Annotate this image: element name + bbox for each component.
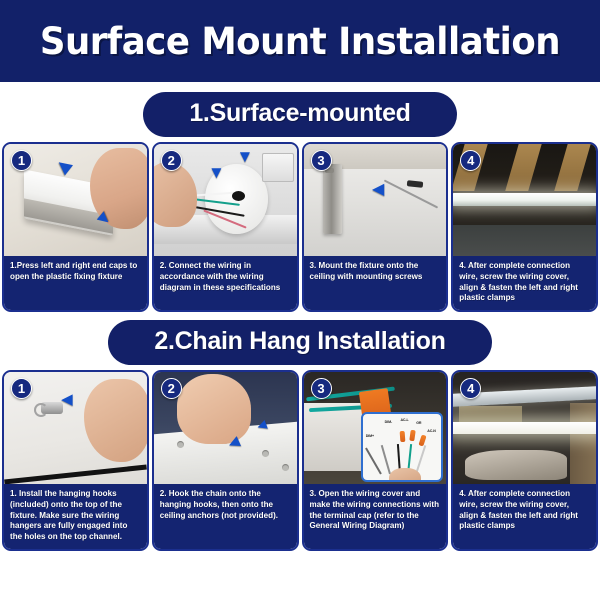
step-number-badge: 1	[11, 378, 32, 399]
lit-led-tube-shape	[453, 422, 596, 433]
page-header-banner: Surface Mount Installation	[0, 0, 600, 82]
step-card-2-4[interactable]: 4 4. After complete connection wire, scr…	[451, 370, 598, 551]
lit-led-tube-shape	[453, 193, 596, 205]
terminal-cap-shape	[399, 431, 405, 442]
inset-label-ac-n: AC-N	[427, 429, 436, 433]
step-card-2-2[interactable]: ◀ ◀ 2 2. Hook the chain onto the hanging…	[152, 370, 299, 551]
hanging-hook-shape	[41, 402, 63, 414]
inset-label-dim-plus: DIM+	[366, 434, 374, 438]
step-card-1-4[interactable]: 4 4. After complete connection wire, scr…	[451, 142, 598, 312]
direction-arrow-icon: ◀	[372, 182, 384, 198]
step-caption: 2. Hook the chain onto the hanging hooks…	[154, 484, 297, 549]
terminal-cap-shape	[409, 430, 415, 442]
hand-shape	[389, 468, 421, 482]
step-number-badge: 2	[161, 150, 182, 171]
section-heading-surface-mounted: 1.Surface-mounted	[0, 86, 600, 142]
step-caption: 1. Install the hanging hooks (included) …	[4, 484, 147, 549]
wall-shape	[570, 403, 596, 484]
direction-arrow-icon: ◀	[61, 392, 73, 407]
wiring-diagram-inset: DIM+ DIM- AC-L GR AC-N	[361, 412, 444, 481]
hand-shape	[177, 374, 251, 443]
step-number-badge: 2	[161, 378, 182, 399]
garage-clutter-shape	[465, 450, 568, 479]
section-2-steps-row: ◀ 1 1. Install the hanging hooks (includ…	[0, 370, 600, 551]
storage-boxes-shape	[459, 406, 522, 424]
step-card-1-3[interactable]: ◀ 3 3. Mount the fixture onto the ceilin…	[302, 142, 449, 312]
step-photo-1-3: ◀ 3	[304, 144, 447, 256]
wood-joist-shape	[554, 144, 592, 191]
step-photo-1-4: 4	[453, 144, 596, 256]
section-heading-chain-hang: 2.Chain Hang Installation	[0, 314, 600, 370]
step-caption: 2. Connect the wiring in accordance with…	[154, 256, 297, 310]
wire-lead-dim-minus	[381, 445, 391, 474]
mounting-hole-shape	[282, 464, 289, 471]
step-caption: 4. After complete connection wire, screw…	[453, 256, 596, 310]
step-card-1-1[interactable]: ◀ ◀ 1 1.Press left and right end caps to…	[2, 142, 149, 312]
direction-arrow-icon: ▼	[208, 164, 225, 181]
mounting-bracket-shape	[323, 164, 342, 233]
section-2-pill-label: 2.Chain Hang Installation	[108, 320, 491, 365]
step-number-badge: 1	[11, 150, 32, 171]
step-photo-2-2: ◀ ◀ 2	[154, 372, 297, 484]
step-caption: 1.Press left and right end caps to open …	[4, 256, 147, 310]
inset-label-gr: GR	[416, 421, 421, 425]
wire-lead-dim-plus	[365, 448, 382, 475]
step-photo-2-4: 4	[453, 372, 596, 484]
control-panel-shape	[262, 153, 293, 182]
step-number-badge: 3	[311, 378, 332, 399]
section-1-steps-row: ◀ ◀ 1 1.Press left and right end caps to…	[0, 142, 600, 312]
step-number-badge: 3	[311, 150, 332, 171]
inset-label-ac-l: AC-L	[400, 418, 408, 422]
step-caption: 3. Open the wiring cover and make the wi…	[304, 484, 447, 549]
hand-shape	[154, 162, 197, 227]
cable-connector-shape	[407, 180, 424, 188]
step-card-2-3[interactable]: DIM+ DIM- AC-L GR AC-N 3 3. Open the wir…	[302, 370, 449, 551]
hand-shape	[84, 379, 147, 462]
direction-arrow-icon: ▼	[237, 148, 254, 165]
dark-edge-shape	[4, 465, 146, 484]
wood-joist-shape	[505, 144, 543, 191]
step-photo-1-1: ◀ ◀ 1	[4, 144, 147, 256]
inset-label-dim-minus: DIM-	[385, 420, 392, 424]
step-card-1-2[interactable]: ▼ ▼ 2 2. Connect the wiring in accordanc…	[152, 142, 299, 312]
step-card-2-1[interactable]: ◀ 1 1. Install the hanging hooks (includ…	[2, 370, 149, 551]
floor-shape	[453, 225, 596, 256]
step-photo-2-1: ◀ 1	[4, 372, 147, 484]
section-1-pill-label: 1.Surface-mounted	[143, 92, 456, 137]
step-caption: 3. Mount the fixture onto the ceiling wi…	[304, 256, 447, 310]
step-caption: 4. After complete connection wire, screw…	[453, 484, 596, 549]
step-photo-2-3: DIM+ DIM- AC-L GR AC-N 3	[304, 372, 447, 484]
step-photo-1-2: ▼ ▼ 2	[154, 144, 297, 256]
page-title: Surface Mount Installation	[40, 20, 560, 63]
